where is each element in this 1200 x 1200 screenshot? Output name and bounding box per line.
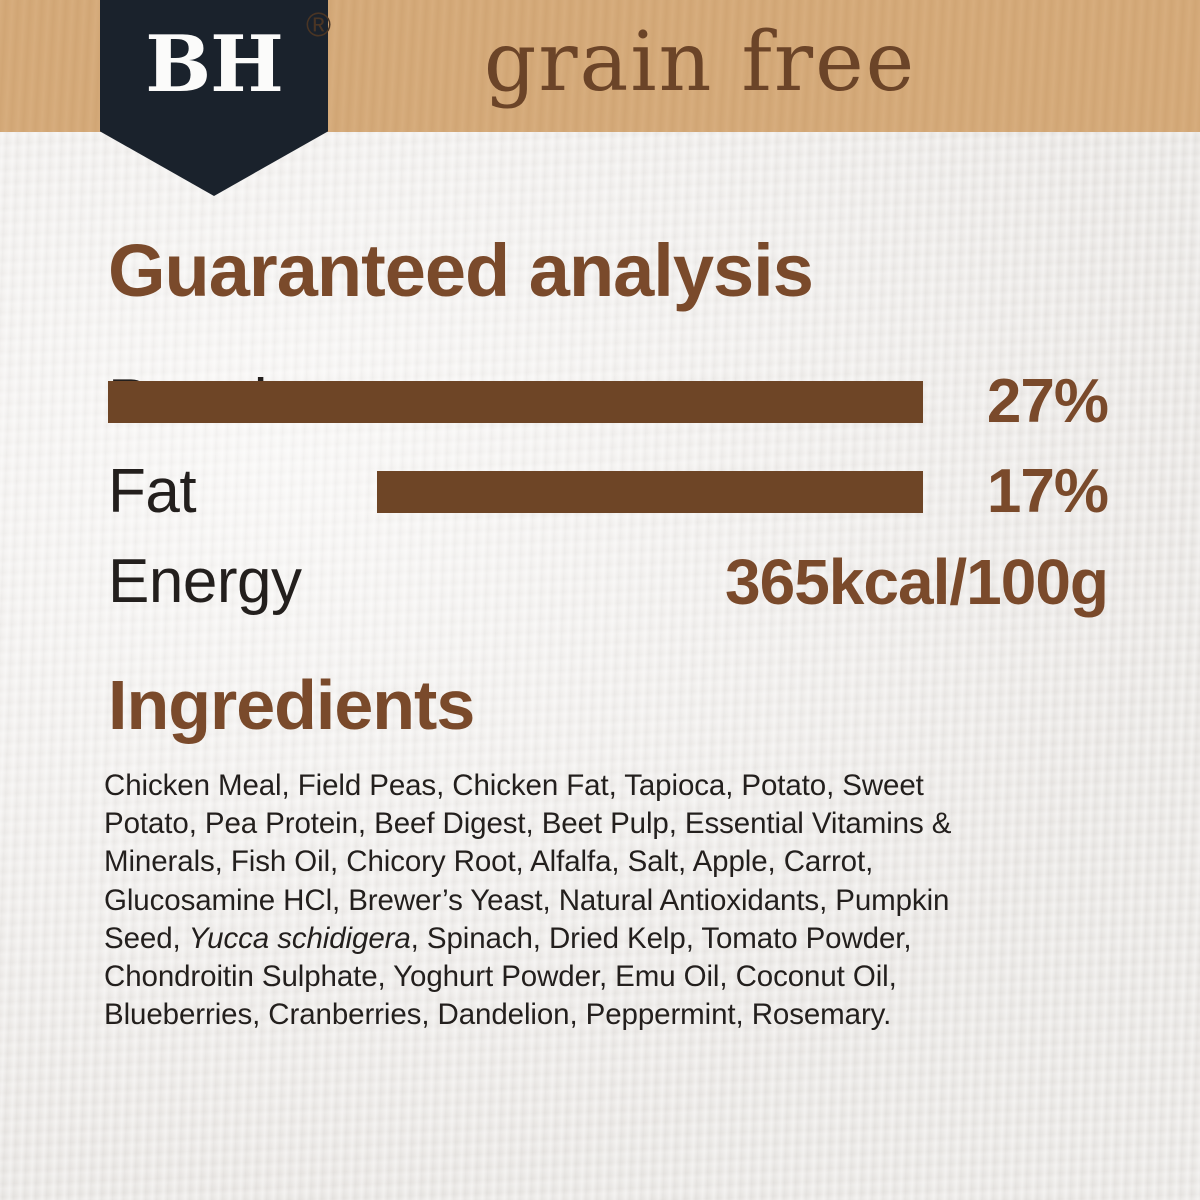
analysis-bar-fat bbox=[377, 471, 923, 513]
analysis-value-fat: 17% bbox=[987, 461, 1108, 523]
analysis-value-energy: 365kcal/100g bbox=[725, 550, 1108, 614]
guaranteed-analysis-table: Protein 27% Fat 17% Energy 365kcal/100g bbox=[108, 357, 1108, 627]
analysis-row-fat: Fat 17% bbox=[108, 447, 1108, 537]
guaranteed-analysis-heading: Guaranteed analysis bbox=[108, 234, 813, 308]
ingredients-italic-term: Yucca schidigera bbox=[189, 922, 411, 955]
analysis-row-protein: Protein 27% bbox=[108, 357, 1108, 447]
brand-badge-initials: BH bbox=[145, 26, 283, 104]
analysis-label-energy: Energy bbox=[108, 551, 301, 613]
analysis-row-energy: Energy 365kcal/100g bbox=[108, 537, 1108, 627]
analysis-bar-protein bbox=[108, 381, 923, 423]
analysis-bar-track-protein bbox=[108, 381, 923, 423]
ingredients-list-text: Chicken Meal, Field Peas, Chicken Fat, T… bbox=[104, 767, 1010, 1034]
ingredients-heading: Ingredients bbox=[108, 670, 474, 740]
pet-food-label-panel: grain free BH ® Guaranteed analysis Prot… bbox=[0, 0, 1200, 1200]
analysis-bar-track-fat bbox=[108, 471, 923, 513]
label-content: Guaranteed analysis Protein 27% Fat 17% … bbox=[0, 132, 1200, 1200]
registered-trademark-icon: ® bbox=[306, 8, 331, 42]
analysis-value-protein: 27% bbox=[987, 371, 1108, 433]
